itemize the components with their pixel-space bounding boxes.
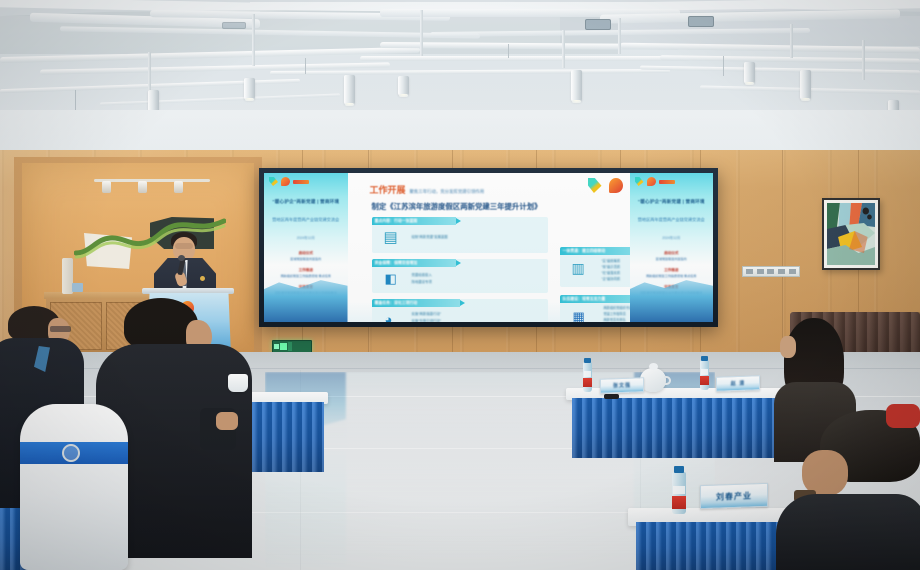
screen-main-panel: 工作开展 聚焦三年行动，充分发挥党建引领作用 制定《江苏滨年旅游度假区两新党建三… (348, 173, 630, 322)
screen-logo-group (635, 177, 675, 186)
attendee-hand (216, 412, 238, 430)
smartphone[interactable] (604, 394, 619, 399)
grid-icon: ▦ (573, 310, 585, 322)
banquet-chair[interactable] (20, 404, 128, 570)
card-line: 党建工作指导员 (604, 312, 626, 317)
left-panel-block: 总结讲话 深化党建引领 优化营商环境 推动高质量发展 (269, 302, 343, 312)
teacup[interactable] (228, 374, 248, 392)
screen-left-panel: “暖心护企”两新党建 | 营商环境 暨地区两年度暨两产业链党建交流会 2024年… (264, 173, 348, 322)
pendant-spotlight (344, 75, 355, 105)
glasses-icon (50, 326, 71, 332)
left-panel-title: “暖心护企”两新党建 | 营商环境 (268, 199, 344, 206)
ceiling-vent (688, 16, 714, 27)
chair-sash-buckle (62, 444, 80, 462)
framed-artwork (822, 198, 880, 270)
card-line: “街”级示范抓 (602, 265, 621, 270)
wallet-icon: ◧ (385, 272, 397, 285)
card-line: 阵地建设专项 (412, 280, 432, 285)
lapel-badge (200, 276, 205, 281)
card-line: “企”级协同抓 (602, 277, 621, 282)
track-light-rail (94, 179, 210, 182)
water-bottle[interactable] (672, 472, 686, 514)
right-table-skirt (572, 398, 778, 458)
content-card: 队伍建设：培育五支力量 ▦ 两新组织党组织书记 党建工作指导员 两新党员先锋队 … (560, 295, 630, 322)
main-panel-subtitle: 制定《江苏滨年旅游度假区两新党建三年提升计划》 (372, 201, 542, 212)
name-card: 刘春产业 (700, 483, 768, 509)
swoosh-logo-icon (269, 177, 278, 186)
card-line: 两新党员先锋队 (604, 318, 626, 322)
directory-wall-sign (742, 266, 800, 277)
right-panel-title: “暖心护企”两新党建 | 营商环境 (634, 199, 710, 206)
name-card: 张文强 (600, 377, 644, 394)
card-line: 党建经费投入 (412, 273, 432, 278)
pendant-spotlight (571, 70, 582, 102)
content-card: 一体贯通：建立四级联动 ▥ “区”级统筹抓 “街”级示范抓 “社”级落实抓 “企… (560, 247, 630, 287)
conference-room-photo: “暖心护企”两新党建 | 营商环境 暨地区两年度暨两产业链党建交流会 2024年… (0, 0, 920, 570)
led-video-wall[interactable]: “暖心护企”两新党建 | 营商环境 暨地区两年度暨两产业链党建交流会 2024年… (259, 168, 718, 327)
left-panel-date: 2024年12月 (270, 235, 342, 240)
left-panel-block: 启动仪式 区域党建联建共建签约 (269, 251, 343, 261)
swoosh-logo-icon (588, 178, 602, 193)
card-line: “区”级统筹抓 (602, 259, 621, 264)
pendant-spotlight (398, 76, 409, 96)
water-bottle[interactable] (700, 360, 709, 390)
card-line: 实施“先锋引领行动” (412, 319, 441, 322)
water-bottle[interactable] (583, 362, 592, 392)
content-card: 重点内容：行动一张蓝图 ▤ 绘制“两新党建”发展蓝图 (372, 217, 548, 253)
pendant-spotlight (244, 78, 255, 100)
document-icon: ▤ (384, 230, 398, 245)
left-panel-block: 工作推进 两新组织党建工作提质增效 重点任务 (269, 268, 343, 278)
card-line: 实施“两新强基行动” (412, 312, 441, 317)
name-card: 赵 清 (716, 375, 760, 392)
track-light (138, 181, 147, 193)
attendee-jacket (776, 494, 920, 570)
flame-logo-icon (281, 177, 290, 186)
track-light (174, 181, 183, 193)
desk-object (72, 283, 83, 292)
attendee-right-front (776, 410, 920, 570)
pendant-spotlight (800, 70, 811, 100)
pendant-spotlight (744, 62, 755, 84)
flame-logo-icon (647, 177, 656, 186)
main-panel-header: 工作开展 聚焦三年行动，充分发挥党建引领作用 (370, 183, 485, 196)
left-panel-block: 交流发言 园区楼宇党建联盟企业代表交流分享经验做法 (269, 285, 343, 295)
globe-icon: ◕ (385, 313, 393, 322)
card-line: 绘制“两新党建”发展蓝图 (412, 235, 448, 240)
swoosh-logo-icon (635, 177, 644, 186)
content-card: 资金保障：保障双倍增加 ◧ 党建经费投入 阵地建设专项 (372, 259, 548, 293)
screen-logo-group (269, 177, 309, 186)
ceiling-vent (585, 19, 611, 30)
screen-right-panel: “暖心护企”两新党建 | 营商环境 暨地区两年度暨两产业链党建交流会 2024年… (630, 173, 714, 322)
main-panel-logos (588, 178, 623, 193)
red-hat (886, 404, 920, 428)
ceiling-vent (222, 22, 246, 29)
content-card: 覆盖任务：深化三项行动 ◕ 实施“两新强基行动” 实施“先锋引领行动” 实施“红… (372, 299, 548, 322)
attendee-face (780, 336, 796, 358)
track-light (102, 181, 111, 193)
flame-logo-icon (609, 178, 623, 193)
right-panel-subtitle: 暨地区两年度暨两产业链党建交流会 (636, 217, 708, 223)
building-icon: ▥ (572, 261, 585, 275)
card-line: “社”级落实抓 (602, 271, 621, 276)
left-panel-subtitle: 暨地区两年度暨两产业链党建交流会 (270, 217, 342, 223)
card-line: 两新组织党组织书记 (604, 306, 630, 311)
microphone-head (178, 255, 185, 261)
